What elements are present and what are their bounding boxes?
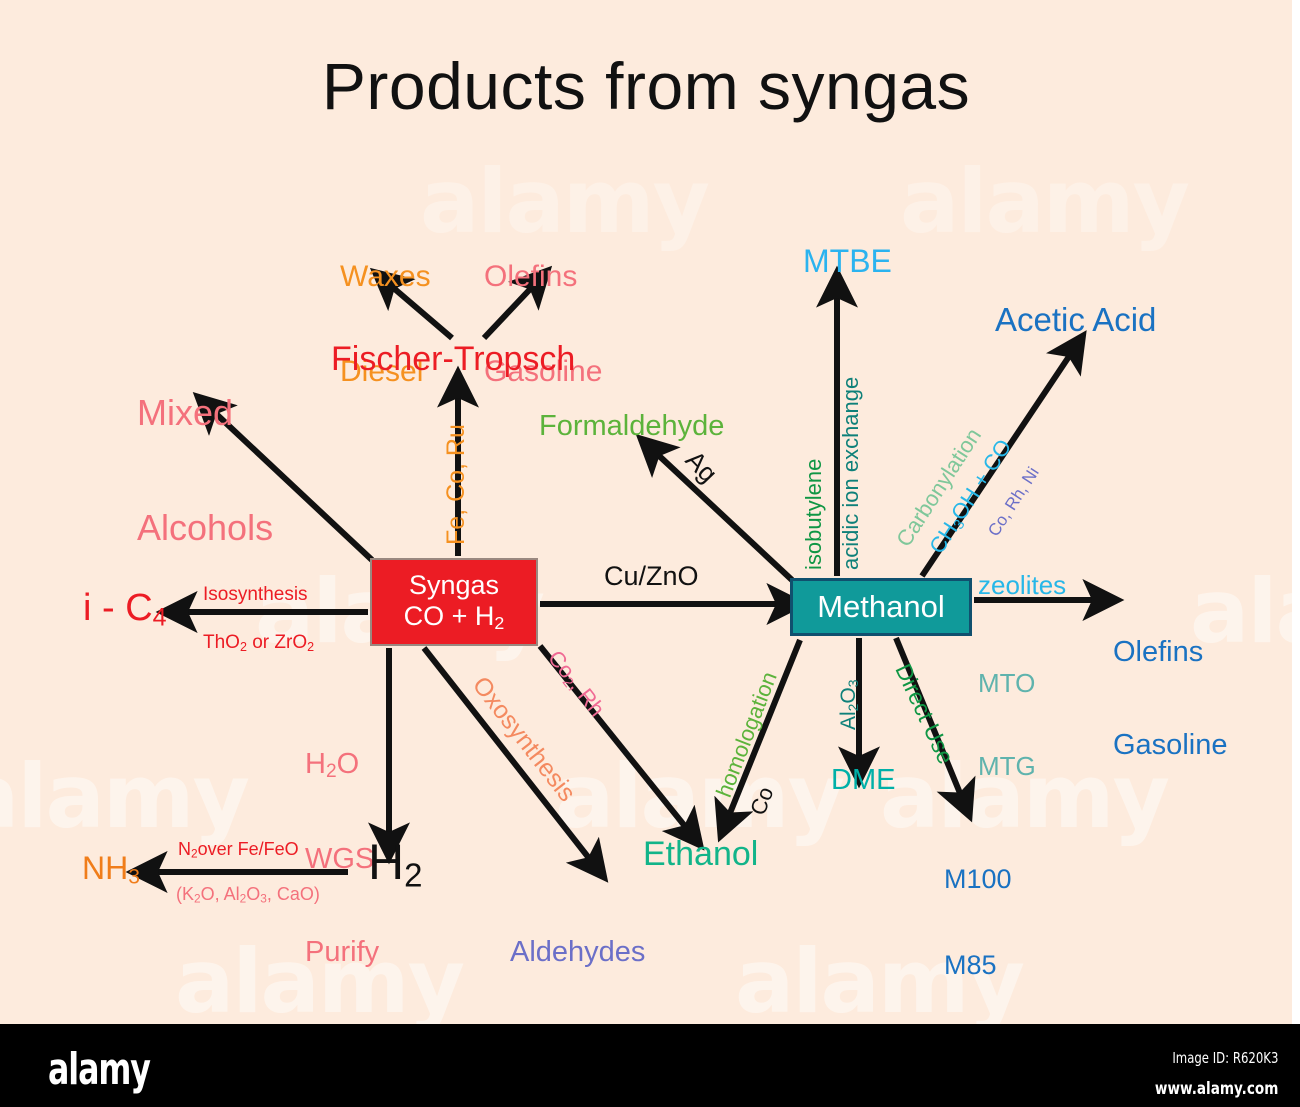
label-isosynthesis: Isosynthesis (203, 585, 308, 605)
label-al2o3: Al2O3 (838, 680, 861, 730)
label-olefins-gasoline-right: Olefins Gasoline (1113, 576, 1227, 822)
label-mtbe: MTBE (803, 245, 892, 279)
label-isobutylene: isobutylene (802, 459, 825, 570)
label-fe-co-ru: Fe, Co, Ru (443, 424, 470, 545)
label-acetic-acid: Acetic Acid (995, 303, 1156, 338)
label-tho2-zro2: ThO2 or ZrO2 (203, 633, 314, 654)
node-methanol-label: Methanol (817, 590, 945, 625)
label-mixed-alcohols: Mixed Alcohols (137, 318, 273, 623)
node-methanol[interactable]: Methanol (790, 578, 972, 636)
footer-bar: alamy Image ID: R620K3 www.alamy.com (0, 1024, 1300, 1107)
footer-url[interactable]: www.alamy.com (1154, 1073, 1278, 1105)
label-dme: DME (831, 765, 895, 796)
label-zeolites: zeolites (978, 572, 1066, 600)
page-title: Products from syngas (0, 48, 1292, 124)
label-ethanol: Ethanol (643, 836, 758, 872)
label-waxes-diesel: Waxes Diesel (340, 197, 431, 451)
node-syngas[interactable]: Syngas CO + H2 (370, 558, 538, 646)
label-h2: H2 (368, 836, 422, 893)
node-syngas-line2: CO + H2 (404, 601, 505, 634)
label-aldehydes-alcohols: Aldehydes Alcohols (510, 876, 645, 1024)
label-nh3: NH3 (82, 852, 140, 889)
label-fischer-tropsch: Fischer-Tropsch (331, 341, 575, 377)
label-acidic-ion-exchange: acidic ion exchange (839, 377, 862, 570)
label-n2-over-fe-feo: N2over Fe/FeO (178, 840, 299, 860)
diagram-canvas: alamy alamy alamy alamy alamy alamy alam… (0, 0, 1292, 1024)
label-formaldehyde: Formaldehyde (539, 411, 724, 442)
label-i-c4: i - C4 (83, 588, 167, 631)
footer-image-id: Image ID: R620K3 (1158, 1044, 1278, 1073)
alamy-logo: alamy (48, 1044, 150, 1095)
diagram-page: alamy alamy alamy alamy alamy alamy alam… (0, 0, 1300, 1107)
footer-meta: Image ID: R620K3 www.alamy.com (1124, 1044, 1278, 1105)
node-syngas-line1: Syngas (409, 570, 499, 600)
label-m100-m85-dmfc: M100 M85 DMFC (944, 808, 1022, 1024)
label-k2o-al2o3-cao: (K2O, Al2O3, CaO) (176, 885, 320, 905)
label-cu-zno: Cu/ZnO (604, 562, 699, 591)
label-mto-mtg: MTO MTG (978, 615, 1036, 835)
